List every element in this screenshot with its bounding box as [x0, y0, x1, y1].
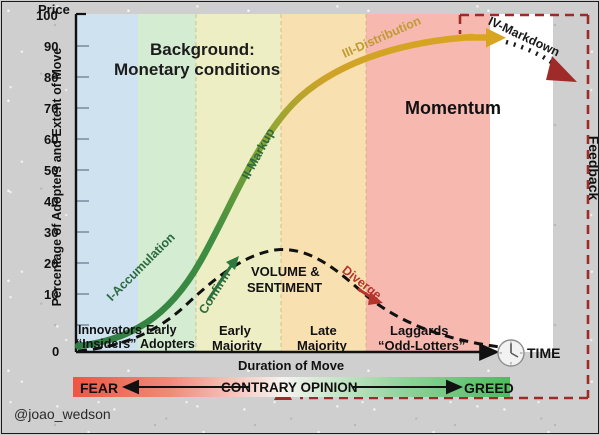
background-note-line1: Background:: [150, 40, 255, 60]
y-tick-30: 30: [44, 225, 58, 240]
feedback-label: Feedback: [586, 133, 600, 203]
band-label-innovators-1: Innovators: [78, 323, 142, 337]
band-label-innovators-2: “Insiders”: [76, 337, 136, 351]
clock-icon: [498, 340, 524, 366]
band-label-early-adopters-2: Adopters: [140, 337, 195, 351]
y-tick-0: 0: [52, 344, 59, 359]
band-label-early-majority-2: Majority: [212, 338, 262, 353]
y-tick-60: 60: [44, 132, 58, 147]
watermark: @joao_wedson: [14, 406, 111, 422]
band-label-early-majority-1: Early: [219, 323, 251, 338]
band-label-late-majority-2: Majority: [297, 338, 347, 353]
band-label-late-majority-1: Late: [310, 323, 337, 338]
band-label-laggards-1: Laggards: [390, 323, 449, 338]
y-tick-70: 70: [44, 101, 58, 116]
y-tick-100: 100: [36, 8, 58, 23]
y-tick-50: 50: [44, 163, 58, 178]
momentum-label: Momentum: [405, 98, 501, 119]
y-tick-20: 20: [44, 256, 58, 271]
x-axis-label: Duration of Move: [238, 358, 344, 373]
sentiment-greed-label: GREED: [464, 380, 514, 396]
chart-canvas: Price Percentage of Adopters and Extent …: [0, 0, 600, 435]
band-label-early-adopters-1: Early: [146, 323, 177, 337]
sentiment-contrary-opinion-label: CONTRARY OPINION: [221, 380, 358, 395]
band-label-laggards-2: “Odd-Lotters”: [378, 338, 465, 353]
background-note-line2: Monetary conditions: [114, 60, 280, 80]
volume-sentiment-label-line1: VOLUME &: [251, 264, 320, 279]
y-tick-10: 10: [44, 287, 58, 302]
sentiment-fear-label: FEAR: [80, 380, 118, 396]
y-tick-90: 90: [44, 39, 58, 54]
time-label: TIME: [527, 345, 560, 361]
y-tick-40: 40: [44, 194, 58, 209]
volume-sentiment-label-line2: SENTIMENT: [247, 280, 322, 295]
y-tick-80: 80: [44, 70, 58, 85]
band-laggards: [366, 14, 490, 352]
band-post-cycle: [490, 14, 553, 352]
